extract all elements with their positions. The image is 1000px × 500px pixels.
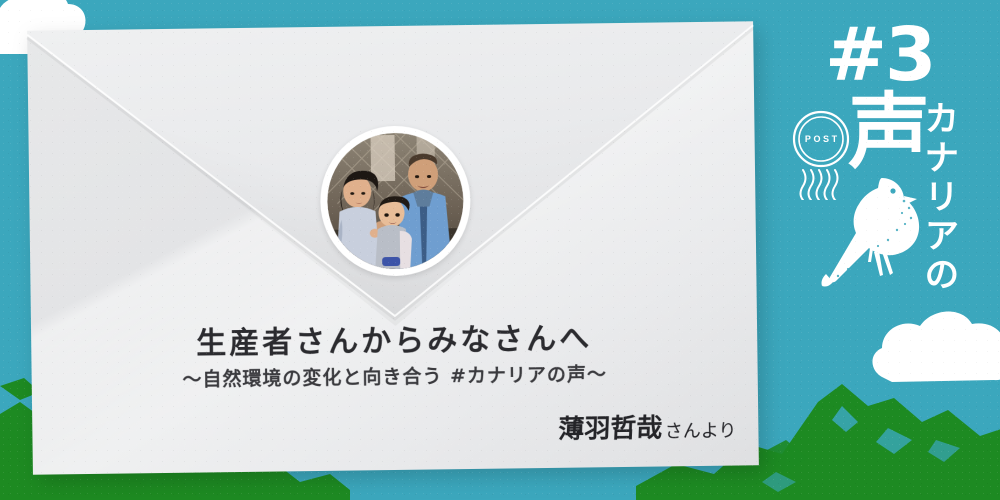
signature-name: 薄羽哲哉 [558, 407, 663, 445]
postmark-label: POST [790, 108, 852, 170]
hero-panel: #3 声 カナリアの POST [770, 0, 1000, 500]
signature: 薄羽哲哉 さんより [558, 407, 736, 446]
avatar-photo [327, 132, 465, 270]
issue-number: #3 [825, 18, 935, 92]
canary-bird-icon [818, 168, 926, 290]
envelope-card: 生産者さんからみなさんへ 〜自然環境の変化と向き合う #カナリアの声〜 薄羽哲哉… [27, 21, 759, 474]
poster-canvas: 生産者さんからみなさんへ 〜自然環境の変化と向き合う #カナリアの声〜 薄羽哲哉… [0, 0, 1000, 500]
signature-suffix: さんより [665, 417, 737, 445]
